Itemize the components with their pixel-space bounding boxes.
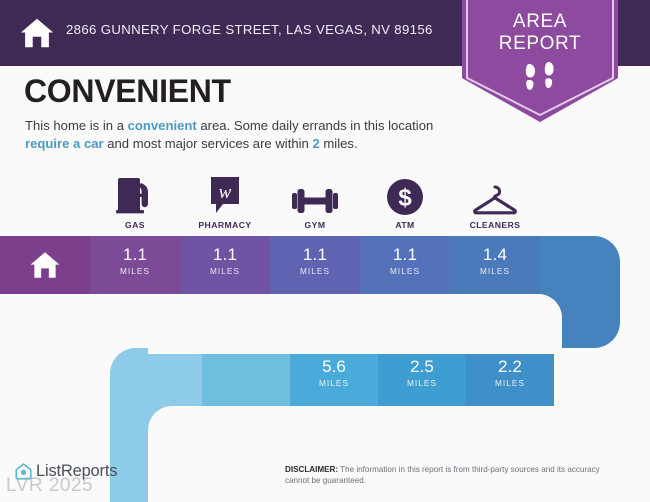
bar-segment-cleaners: 1.4 MILES xyxy=(450,236,540,294)
bar-segment-coffee: 2.2 MILES xyxy=(466,348,554,406)
gas-pump-icon xyxy=(90,172,180,216)
distance-unit: MILES xyxy=(180,267,270,276)
ribbon-icon-well xyxy=(148,294,562,354)
badge-text: AREA REPORT xyxy=(462,11,618,55)
amenity-gas: GAS xyxy=(90,172,180,230)
summary-highlight-car: require a car xyxy=(25,136,104,151)
bar-segment-medical: 2.5 MILES xyxy=(378,348,466,406)
svg-text:$: $ xyxy=(398,185,412,212)
dollar-circle-icon: $ xyxy=(360,172,450,216)
listreports-branding: ListReports xyxy=(14,462,117,481)
distance-value: 1.1 xyxy=(180,245,270,265)
hanger-icon xyxy=(450,172,540,216)
ribbon-notch-left xyxy=(148,406,208,502)
bar-segment-atm: 1.1 MILES xyxy=(360,236,450,294)
disclaimer-label: DISCLAIMER: xyxy=(285,465,338,474)
area-report-badge: AREA REPORT xyxy=(462,0,618,122)
bar-segment-movie-theater: 5.6 MILES xyxy=(290,348,378,406)
summary-pre: This home is in a xyxy=(25,118,128,133)
summary-highlight-miles: 2 xyxy=(312,136,319,151)
distance-unit: MILES xyxy=(466,379,554,388)
amenity-label: PHARMACY xyxy=(180,220,270,230)
summary-mid-1: area. Some daily errands in this locatio… xyxy=(197,118,434,133)
distance-unit: MILES xyxy=(378,379,466,388)
distance-value: 5.6 xyxy=(290,357,378,377)
dumbbell-icon xyxy=(270,172,360,216)
distance-unit: MILES xyxy=(90,267,180,276)
bar-segment-home xyxy=(0,236,90,294)
walgreens-w-icon: w xyxy=(180,172,270,216)
distance-value: 1.1 xyxy=(270,245,360,265)
amenity-pharmacy: w PHARMACY xyxy=(180,172,270,230)
listreports-wordmark: ListReports xyxy=(36,462,117,481)
home-icon xyxy=(18,14,56,52)
distance-unit: MILES xyxy=(360,267,450,276)
amenity-label: GAS xyxy=(90,220,180,230)
badge-line-1: AREA xyxy=(462,11,618,33)
amenity-label: CLEANERS xyxy=(450,220,540,230)
distance-unit: MILES xyxy=(290,379,378,388)
bar-segment-spacer-2 xyxy=(202,348,290,406)
bar-segment-gas: 1.1 MILES xyxy=(90,236,180,294)
amenity-label: ATM xyxy=(360,220,450,230)
summary-post: miles. xyxy=(320,136,358,151)
listreports-logo-icon xyxy=(14,462,33,481)
disclaimer: DISCLAIMER: The information in this repo… xyxy=(285,464,620,486)
amenity-cleaners: CLEANERS xyxy=(450,172,540,230)
home-icon xyxy=(0,248,90,287)
page-title: CONVENIENT xyxy=(24,73,231,110)
distance-unit: MILES xyxy=(270,267,360,276)
bar-segment-gym: 1.1 MILES xyxy=(270,236,360,294)
bar-segment-pharmacy: 1.1 MILES xyxy=(180,236,270,294)
distance-value: 2.2 xyxy=(466,357,554,377)
distance-value: 1.1 xyxy=(360,245,450,265)
distance-value: 2.5 xyxy=(378,357,466,377)
badge-line-2: REPORT xyxy=(462,33,618,55)
amenity-gym: GYM xyxy=(270,172,360,230)
amenity-atm: $ ATM xyxy=(360,172,450,230)
distance-unit: MILES xyxy=(450,267,540,276)
distance-value: 1.1 xyxy=(90,245,180,265)
summary-mid-2: and most major services are within xyxy=(104,136,313,151)
svg-text:w: w xyxy=(219,182,232,203)
distance-value: 1.4 xyxy=(450,245,540,265)
amenity-label: GYM xyxy=(270,220,360,230)
footprints-icon xyxy=(462,60,618,99)
property-address: 2866 GUNNERY FORGE STREET, LAS VEGAS, NV… xyxy=(66,22,433,37)
summary-highlight-convenient: convenient xyxy=(128,118,197,133)
summary-text: This home is in a convenient area. Some … xyxy=(25,117,455,152)
